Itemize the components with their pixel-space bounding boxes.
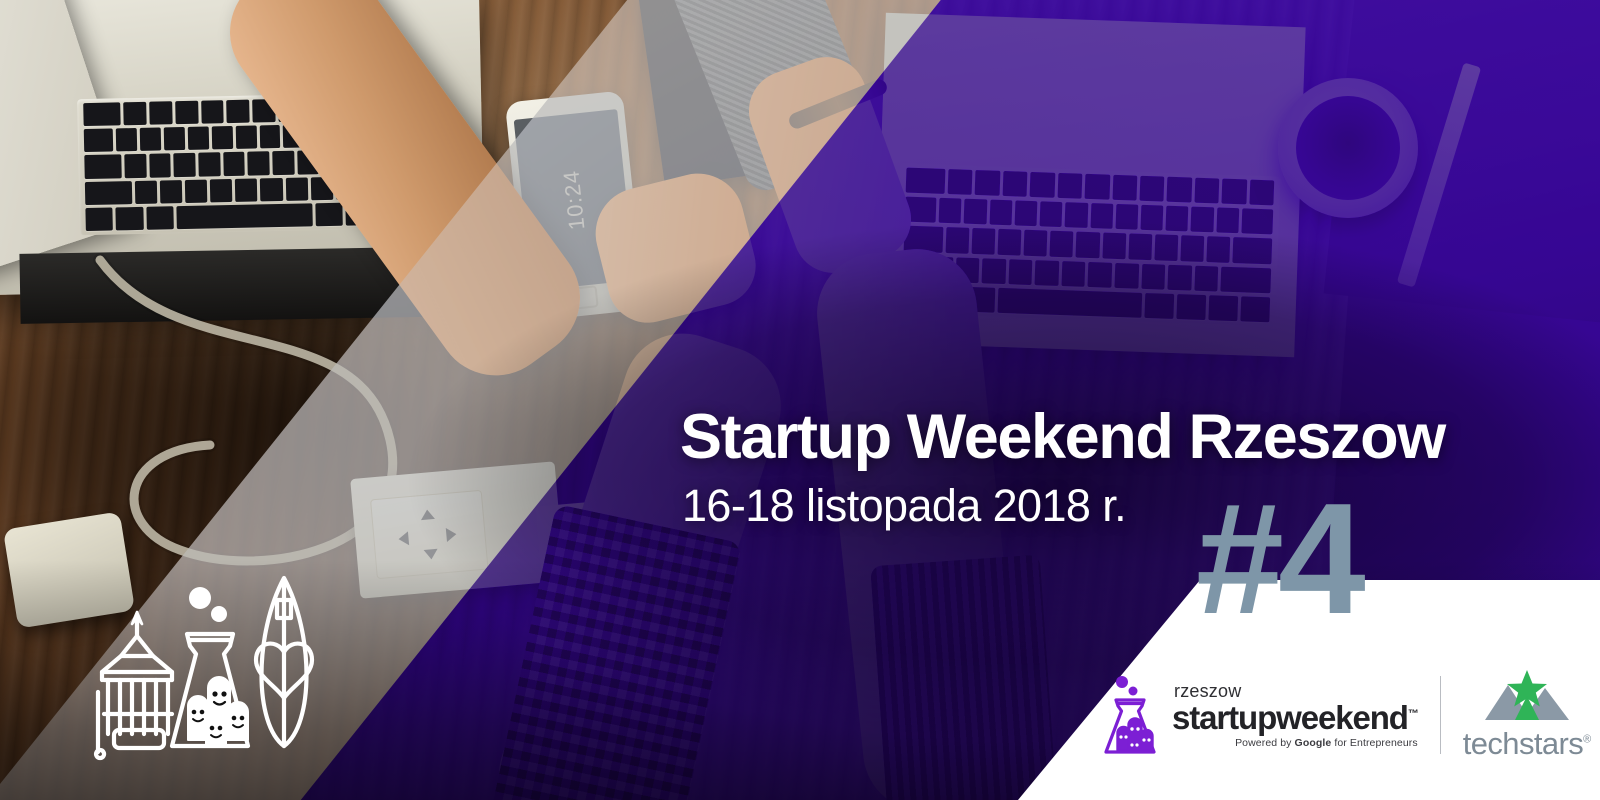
startup-weekend-wordmark: rzeszow startupweekend™ Powered by Googl… — [1172, 682, 1418, 749]
techstars-wordmark: techstars® — [1463, 726, 1591, 762]
flask-with-faces-icon — [172, 587, 248, 746]
logo-divider — [1440, 676, 1441, 754]
sw-powered-by-line: Powered by Google for Entrepreneurs — [1235, 738, 1418, 749]
phone-clock-time: 10:24 — [558, 169, 590, 231]
google-brand: Google — [1295, 737, 1332, 749]
sw-name-text: startupweekend — [1172, 699, 1408, 736]
sw-name-label: startupweekend™ — [1172, 701, 1418, 734]
startup-weekend-logo[interactable]: rzeszow startupweekend™ Powered by Googl… — [1100, 675, 1418, 755]
sponsor-logos: rzeszow startupweekend™ Powered by Googl… — [1100, 668, 1591, 762]
powered-suffix: for Entrepreneurs — [1331, 737, 1417, 749]
techstars-logo[interactable]: techstars® — [1463, 668, 1591, 762]
event-banner: 10:24 — [0, 0, 1600, 800]
gazebo-pavilion-icon — [96, 612, 172, 758]
event-title: Startup Weekend Rzeszow — [680, 406, 1445, 469]
startup-weekend-flask-icon — [1100, 675, 1162, 755]
techstars-name-text: techstars — [1463, 726, 1583, 761]
power-socket — [370, 490, 489, 579]
trademark-symbol: ™ — [1408, 708, 1418, 720]
power-outlet — [350, 461, 565, 598]
event-dates: 16-18 listopada 2018 r. — [682, 483, 1445, 528]
sw-city-label: rzeszow — [1174, 682, 1418, 700]
coffee-cup — [1278, 78, 1418, 218]
registered-symbol: ® — [1583, 734, 1591, 746]
knit-sleeve-lower-right — [870, 554, 1060, 800]
techstars-star-mountain-icon — [1481, 668, 1573, 724]
powered-prefix: Powered by — [1235, 737, 1294, 749]
rzeszow-city-skyline-icon — [88, 574, 338, 764]
headline-block: Startup Weekend Rzeszow 16-18 listopada … — [680, 406, 1445, 528]
monument-heart-icon — [256, 578, 312, 746]
